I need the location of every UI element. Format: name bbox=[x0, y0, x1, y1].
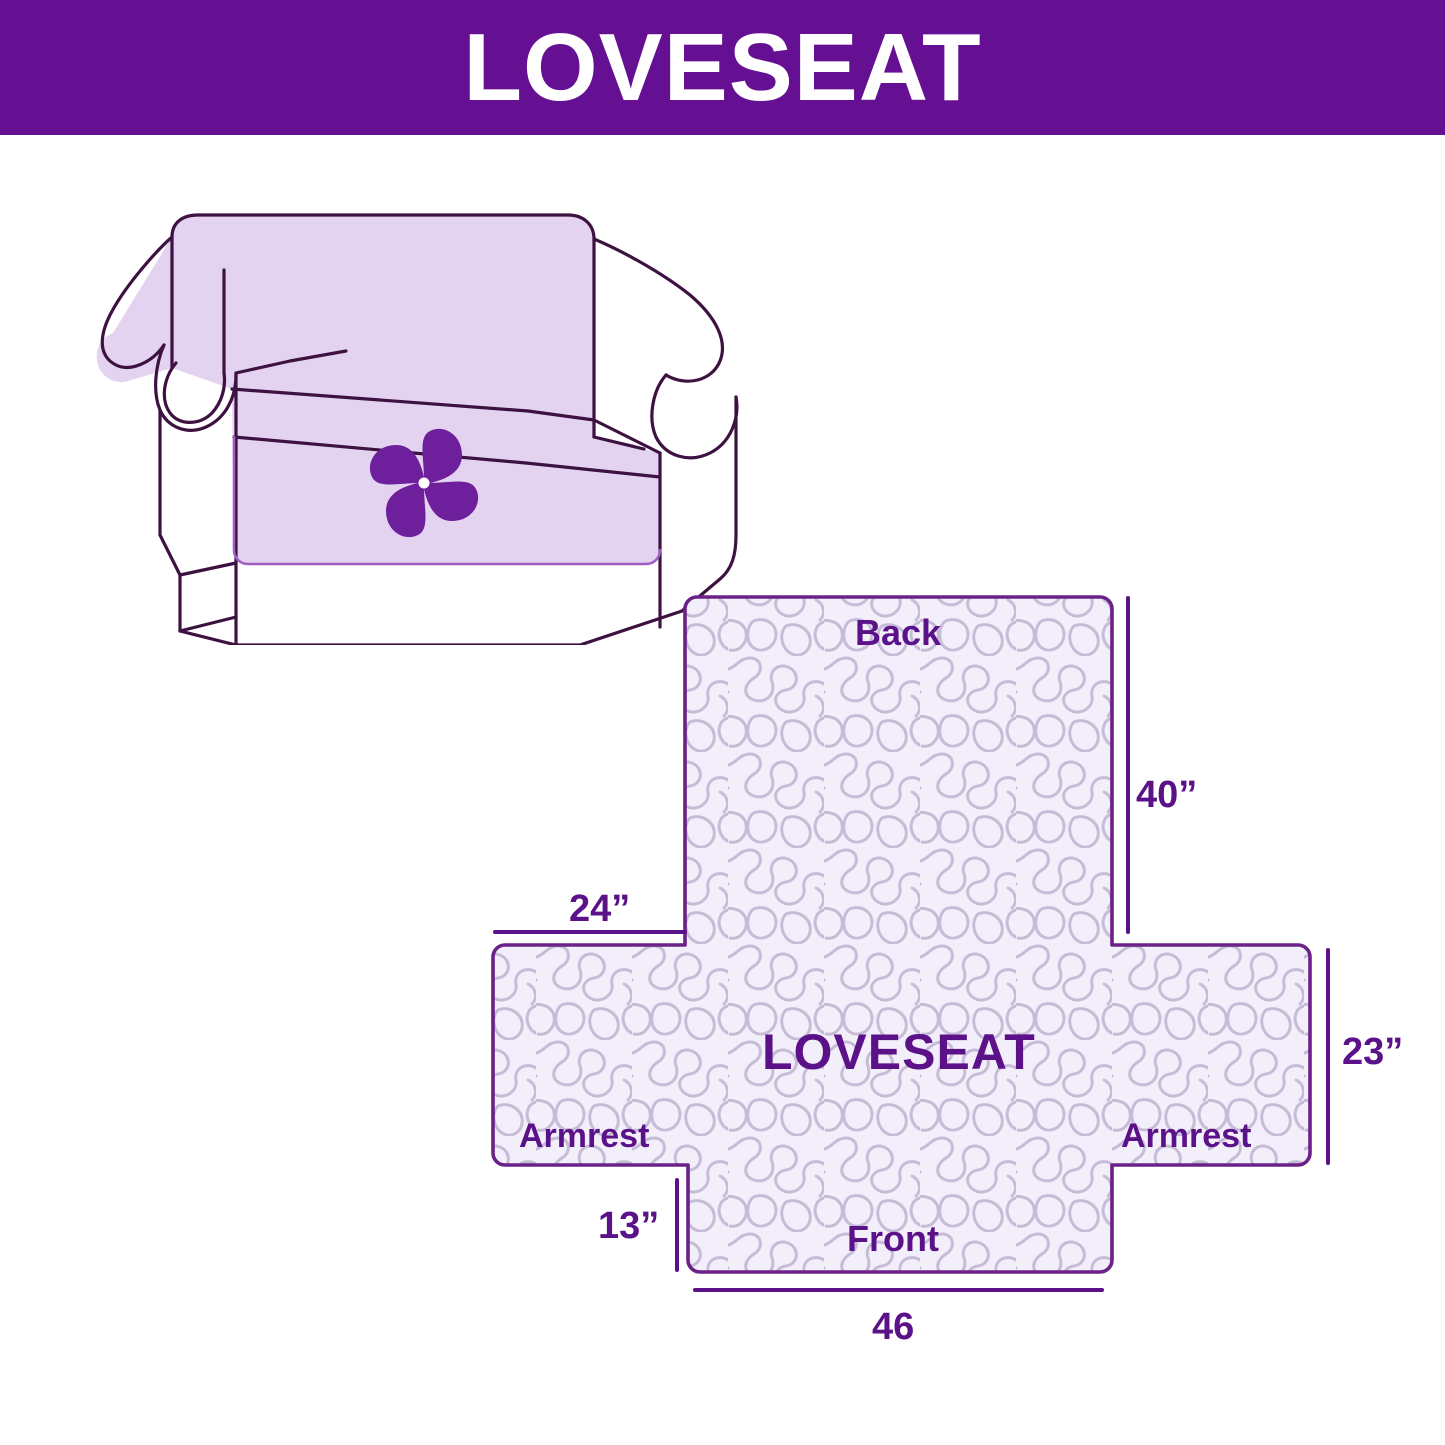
sofa-left-foot-top bbox=[180, 617, 236, 631]
panel-label-front: Front bbox=[847, 1218, 939, 1260]
sofa-right-arm-outer-top bbox=[594, 239, 722, 381]
panel-label-back: Back bbox=[855, 612, 941, 654]
panel-label-armrest-right: Armrest bbox=[1121, 1117, 1251, 1156]
page-root: LOVESEAT bbox=[0, 0, 1445, 1445]
header-banner: LOVESEAT bbox=[0, 0, 1445, 135]
page-title: LOVESEAT bbox=[463, 20, 981, 116]
sofa-left-body-fold bbox=[180, 563, 236, 575]
dimension-label-front-width: 46 bbox=[872, 1306, 914, 1349]
sofa-left-arm-front-left bbox=[160, 410, 180, 631]
panel-label-center: LOVESEAT bbox=[762, 1023, 1036, 1081]
dimension-label-back-offset: 24” bbox=[569, 888, 630, 931]
dimension-label-armrest-height: 23” bbox=[1342, 1031, 1403, 1074]
cover-cross-outline bbox=[493, 597, 1310, 1272]
panel-label-armrest-left: Armrest bbox=[519, 1117, 649, 1156]
cover-diagram bbox=[440, 560, 1445, 1360]
dimension-label-front-offset: 13” bbox=[598, 1205, 659, 1248]
dimension-label-back-height: 40” bbox=[1136, 774, 1197, 817]
sofa-right-arm-inner-roll bbox=[652, 375, 737, 458]
